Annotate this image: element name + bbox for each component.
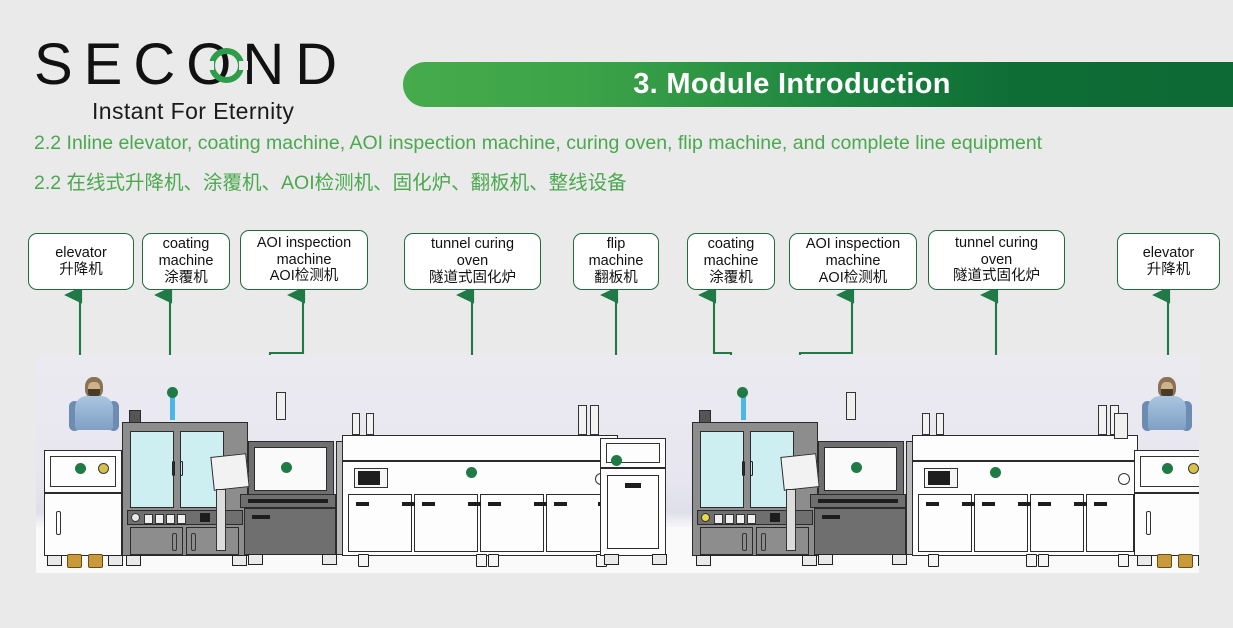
- o-ring-mask-left: [205, 61, 214, 70]
- label-en2: machine: [159, 253, 214, 270]
- slide-root: SECOND Instant For Eternity 3. Module In…: [0, 0, 1233, 628]
- label-cn: AOI检测机: [270, 268, 338, 285]
- label-en: tunnel curing: [431, 236, 514, 253]
- elevator-leveler-left-1: [67, 554, 82, 568]
- label-cn: 涂覆机: [164, 270, 208, 287]
- label-en: elevator: [55, 245, 107, 262]
- oven-door-handle-right-5: [1038, 502, 1051, 506]
- oven-exhaust-right-2: [936, 413, 944, 435]
- oven-gauge-right: [1118, 473, 1130, 485]
- oven-door-handle-left-2: [402, 502, 415, 506]
- coating-readout-left: [200, 513, 210, 522]
- coating-readout-right: [770, 513, 780, 522]
- label-en: flip: [607, 236, 626, 253]
- label-en2: oven: [981, 252, 1012, 269]
- elevator-dial-right: [1188, 463, 1199, 474]
- oven-exhaust-left-4: [590, 405, 599, 435]
- oven-hmi-screen-right: [928, 471, 950, 485]
- section-banner: 3. Module Introduction: [403, 62, 1233, 107]
- oven-caster-right-4: [1118, 554, 1129, 567]
- label-en2: machine: [589, 253, 644, 270]
- coating-button-left-1[interactable]: [144, 514, 153, 524]
- elevator-leveler-right-2: [1178, 554, 1193, 568]
- coating-button-right-1[interactable]: [714, 514, 723, 524]
- oven-hmi-screen-left: [358, 471, 380, 485]
- aoi-badge-right: [822, 515, 840, 519]
- oven-exhaust-right-3: [1098, 405, 1107, 435]
- brand-name: SECOND: [34, 36, 374, 94]
- oven-door-handle-right-2: [962, 502, 975, 506]
- aoi-rail-right: [818, 499, 898, 503]
- coating-glass-handle-right-1: [742, 461, 745, 476]
- coating-button-left-2[interactable]: [155, 514, 164, 524]
- coating-button-right-3[interactable]: [736, 514, 745, 524]
- coating-door-handle-left-2: [191, 533, 196, 551]
- flip-foot-1: [604, 554, 619, 565]
- coating-glass-handle-left-1: [172, 461, 175, 476]
- coating-door-handle-left-1: [172, 533, 177, 551]
- coating-button-left-3[interactable]: [166, 514, 175, 524]
- callout-coating-right[interactable]: coating machine 涂覆机: [687, 233, 775, 290]
- page-title: 3. Module Introduction: [403, 62, 1181, 107]
- coating-foot-left-1: [126, 555, 141, 566]
- label-cn: AOI检测机: [819, 270, 887, 287]
- callout-aoi-right[interactable]: AOI inspection machine AOI检测机: [789, 233, 917, 290]
- oven-exhaust-right-1: [922, 413, 930, 435]
- flip-foot-2: [652, 554, 667, 565]
- coating-glass-handle-right-2: [750, 461, 753, 476]
- callout-flip[interactable]: flip machine 翻板机: [573, 233, 659, 290]
- elevator-foot-right-2: [1198, 555, 1199, 566]
- oven-caster-left-1: [358, 554, 369, 567]
- subtitle-chinese: 2.2 在线式升降机、涂覆机、AOI检测机、固化炉、翻板机、整线设备: [34, 166, 627, 195]
- elevator-tower-right: [1114, 413, 1128, 439]
- oven-exhaust-left-3: [578, 405, 587, 435]
- leader-dot-flip: [611, 455, 622, 466]
- aoi-foot-left-2: [322, 554, 337, 565]
- coating-glass-door-left-1[interactable]: [130, 431, 174, 508]
- aoi-stand-left: [216, 489, 226, 551]
- oven-door-handle-right-6: [1074, 502, 1087, 506]
- oven-door-handle-right-3: [982, 502, 995, 506]
- aoi-operator-screen-right[interactable]: [780, 453, 819, 491]
- coating-button-right-4[interactable]: [747, 514, 756, 524]
- oven-door-handle-right-4: [1018, 502, 1031, 506]
- elevator-foot-right-1: [1137, 555, 1152, 566]
- aoi-operator-screen-left[interactable]: [210, 453, 249, 491]
- callout-elevator-left[interactable]: elevator 升降机: [28, 233, 134, 290]
- elevator-dial-left: [98, 463, 109, 474]
- elevator-foot-left-1: [47, 555, 62, 566]
- elevator-leveler-right-1: [1157, 554, 1172, 568]
- leader-dot-coating-left: [167, 387, 178, 398]
- oven-top-hood-right: [912, 435, 1138, 461]
- oven-exhaust-left-1: [352, 413, 360, 435]
- coating-estop-left[interactable]: [131, 513, 140, 522]
- callout-coating-left[interactable]: coating machine 涂覆机: [142, 233, 230, 290]
- leader-dot-elevator-left: [75, 463, 86, 474]
- o-ring-mask-right: [239, 61, 248, 70]
- oven-door-handle-left-6: [534, 502, 547, 506]
- aoi-tower-right: [846, 392, 856, 420]
- elevator-leveler-left-2: [88, 554, 103, 568]
- brand-logo: SECOND Instant For Eternity: [34, 36, 374, 126]
- oven-door-handle-right-1: [926, 502, 939, 506]
- oven-door-handle-left-4: [468, 502, 481, 506]
- coating-glass-door-right-1[interactable]: [700, 431, 744, 508]
- aoi-foot-right-1: [818, 554, 833, 565]
- callout-curing-left[interactable]: tunnel curing oven 隧道式固化炉: [404, 233, 541, 290]
- elevator-cabinet-right: [1134, 493, 1199, 556]
- label-cn: 涂覆机: [709, 270, 753, 287]
- label-en2: machine: [704, 253, 759, 270]
- oven-exhaust-left-2: [366, 413, 374, 435]
- coating-foot-left-2: [232, 555, 247, 566]
- coating-estop-right[interactable]: [701, 513, 710, 522]
- oven-door-handle-left-7: [554, 502, 567, 506]
- elevator-handle-right: [1146, 511, 1151, 535]
- coating-button-left-4[interactable]: [177, 514, 186, 524]
- brand-tagline: Instant For Eternity: [92, 98, 294, 125]
- oven-caster-left-2: [476, 554, 487, 567]
- aoi-rail-left: [248, 499, 328, 503]
- oven-door-handle-left-5: [488, 502, 501, 506]
- coating-foot-right-2: [802, 555, 817, 566]
- coating-foot-right-1: [696, 555, 711, 566]
- leader-dot-elevator-right: [1162, 463, 1173, 474]
- label-cn: 隧道式固化炉: [429, 270, 516, 287]
- callout-aoi-left[interactable]: AOI inspection machine AOI检测机: [240, 230, 368, 290]
- label-cn: 隧道式固化炉: [953, 268, 1040, 285]
- label-en: AOI inspection: [257, 235, 351, 252]
- callout-elevator-right[interactable]: elevator 升降机: [1117, 233, 1220, 290]
- label-en2: machine: [826, 253, 881, 270]
- aoi-badge-left: [252, 515, 270, 519]
- aoi-tower-left: [276, 392, 286, 420]
- oven-door-handle-left-1: [356, 502, 369, 506]
- oven-caster-left-3: [488, 554, 499, 567]
- leader-dot-curing-right: [990, 467, 1001, 478]
- oven-door-handle-left-3: [422, 502, 435, 506]
- oven-top-hood-left: [342, 435, 618, 461]
- coating-door-handle-right-2: [761, 533, 766, 551]
- label-en2: oven: [457, 253, 488, 270]
- oven-caster-right-2: [1026, 554, 1037, 567]
- aoi-foot-left-1: [248, 554, 263, 565]
- oven-caster-right-3: [1038, 554, 1049, 567]
- label-cn: 升降机: [1147, 262, 1191, 279]
- leader-dot-coating-right: [737, 387, 748, 398]
- aoi-foot-right-2: [892, 554, 907, 565]
- leader-dot-aoi-left: [281, 462, 292, 473]
- label-en: coating: [163, 236, 210, 253]
- label-en: AOI inspection: [806, 236, 900, 253]
- label-en: elevator: [1143, 245, 1195, 262]
- coating-button-right-2[interactable]: [725, 514, 734, 524]
- coating-glass-handle-left-2: [180, 461, 183, 476]
- label-en2: machine: [277, 252, 332, 269]
- oven-door-handle-right-7: [1094, 502, 1107, 506]
- label-en: tunnel curing: [955, 235, 1038, 252]
- leader-dot-aoi-right: [851, 462, 862, 473]
- equipment-photo: [36, 355, 1199, 573]
- subtitle-english: 2.2 Inline elevator, coating machine, AO…: [34, 132, 1042, 155]
- operator-figure-right: [1141, 377, 1193, 443]
- leader-dot-curing-left: [466, 467, 477, 478]
- operator-figure-left: [68, 377, 120, 443]
- label-cn: 升降机: [59, 262, 103, 279]
- elevator-handle-left: [56, 511, 61, 535]
- coating-door-handle-right-1: [742, 533, 747, 551]
- elevator-foot-left-2: [108, 555, 123, 566]
- oven-caster-right-1: [928, 554, 939, 567]
- flip-door-handle: [625, 483, 641, 488]
- callout-curing-right[interactable]: tunnel curing oven 隧道式固化炉: [928, 230, 1065, 290]
- label-cn: 翻板机: [594, 270, 638, 287]
- label-en: coating: [708, 236, 755, 253]
- aoi-stand-right: [786, 489, 796, 551]
